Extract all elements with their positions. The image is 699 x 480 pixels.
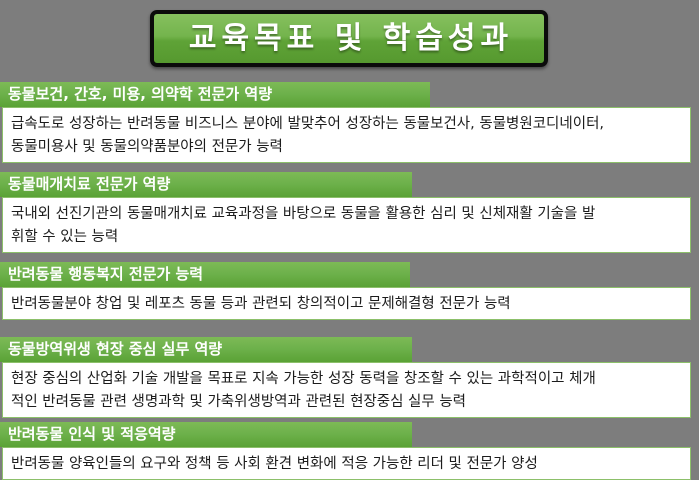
section-header-2: 동물매개치료 전문가 역량 <box>0 172 412 197</box>
competency-section-5: 반려동물 인식 및 적응역량 반려동물 양육인들의 요구와 정책 등 사회 환견… <box>0 422 699 480</box>
competency-section-2: 동물매개치료 전문가 역량 국내외 선진기관의 동물매개치료 교육과정을 바탕으… <box>0 172 699 253</box>
section-header-1: 동물보건, 간호, 미용, 의약학 전문가 역량 <box>0 82 430 107</box>
slide-canvas: 교육목표 및 학습성과 동물보건, 간호, 미용, 의약학 전문가 역량 급속도… <box>0 0 699 480</box>
section-header-4: 동물방역위생 현장 중심 실무 역량 <box>0 337 412 362</box>
section-body-3: 반려동물분야 창업 및 레포츠 동물 등과 관련되 창의적이고 문제해결형 전문… <box>2 287 691 320</box>
competency-section-1: 동물보건, 간호, 미용, 의약학 전문가 역량 급속도로 성장하는 반려동물 … <box>0 82 699 163</box>
page-title: 교육목표 및 학습성과 <box>185 24 513 54</box>
section-header-5: 반려동물 인식 및 적응역량 <box>0 422 412 447</box>
competency-section-3: 반려동물 행동복지 전문가 능력 반려동물분야 창업 및 레포츠 동물 등과 관… <box>0 262 699 320</box>
competency-section-4: 동물방역위생 현장 중심 실무 역량 현장 중심의 산업화 기술 개발을 목표로… <box>0 337 699 418</box>
section-header-3: 반려동물 행동복지 전문가 능력 <box>0 262 410 287</box>
slide-title-box: 교육목표 및 학습성과 <box>150 10 548 67</box>
section-body-1: 급속도로 성장하는 반려동물 비즈니스 분야에 발맞추어 성장하는 동물보건사,… <box>2 107 691 163</box>
section-body-2: 국내외 선진기관의 동물매개치료 교육과정을 바탕으로 동물을 활용한 심리 및… <box>2 197 691 253</box>
section-body-5: 반려동물 양육인들의 요구와 정책 등 사회 환견 변화에 적응 가능한 리더 … <box>2 447 691 480</box>
section-body-4: 현장 중심의 산업화 기술 개발을 목표로 지속 가능한 성장 동력을 창조할 … <box>2 362 691 418</box>
